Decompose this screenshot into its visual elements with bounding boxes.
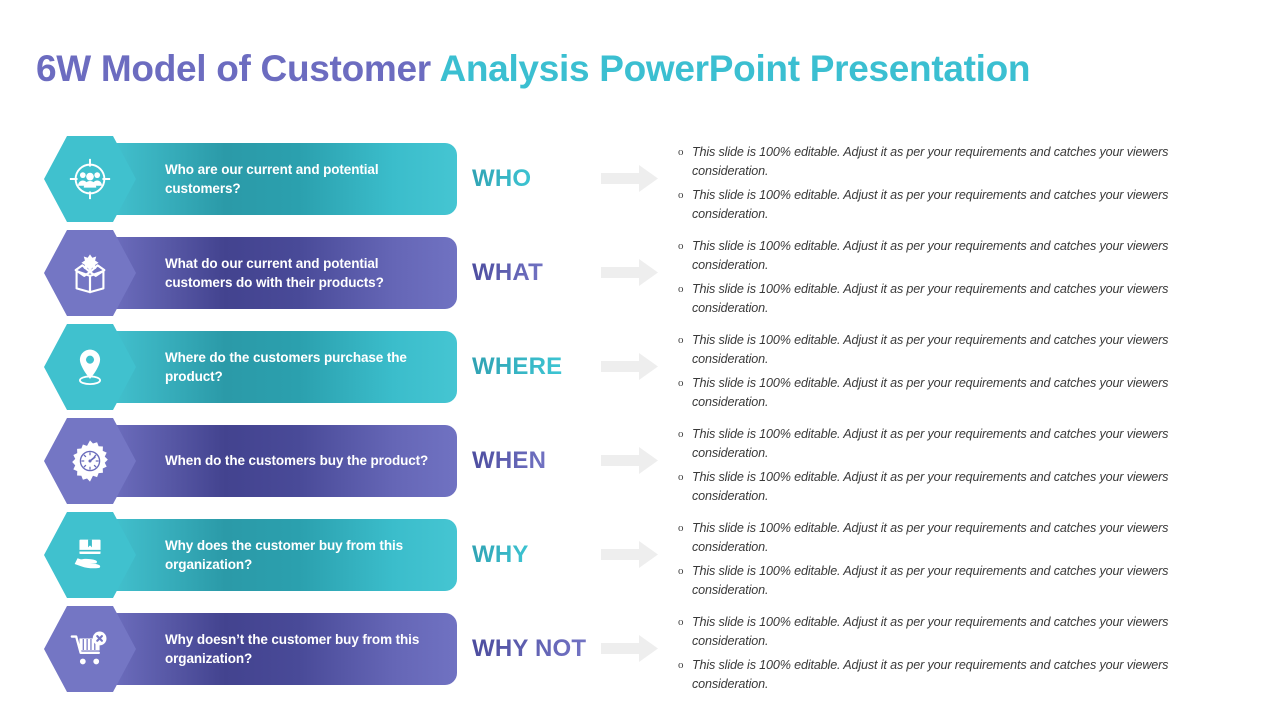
list-item: o This slide is 100% editable. Adjust it… (678, 562, 1178, 599)
right-arrow-icon (601, 259, 658, 286)
gear-clock-icon (67, 438, 113, 484)
six-w-row: Who are our current and potential custom… (0, 136, 1280, 230)
bullet-list: o This slide is 100% editable. Adjust it… (678, 324, 1178, 418)
right-arrow-icon (601, 165, 658, 192)
right-arrow-icon (601, 353, 658, 380)
list-item: o This slide is 100% editable. Adjust it… (678, 374, 1178, 411)
bullet-marker-icon: o (678, 280, 692, 299)
bullet-marker-icon: o (678, 562, 692, 581)
bullet-text: This slide is 100% editable. Adjust it a… (692, 331, 1178, 368)
six-w-row: Why doesn’t the customer buy from this o… (0, 606, 1280, 700)
bullet-marker-icon: o (678, 425, 692, 444)
page-title-part2: Analysis PowerPoint Presentation (439, 48, 1030, 89)
list-item: o This slide is 100% editable. Adjust it… (678, 331, 1178, 368)
list-item: o This slide is 100% editable. Adjust it… (678, 468, 1178, 505)
keyword-label: WHY (472, 512, 529, 598)
bullet-text: This slide is 100% editable. Adjust it a… (692, 562, 1178, 599)
list-item: o This slide is 100% editable. Adjust it… (678, 519, 1178, 556)
target-people-icon (67, 156, 113, 202)
keyword-label: WHO (472, 136, 531, 222)
bullet-marker-icon: o (678, 374, 692, 393)
bullet-list: o This slide is 100% editable. Adjust it… (678, 606, 1178, 700)
list-item: o This slide is 100% editable. Adjust it… (678, 613, 1178, 650)
bullet-marker-icon: o (678, 143, 692, 162)
page-title-part1: 6W Model of Customer (36, 48, 439, 89)
bullet-marker-icon: o (678, 237, 692, 256)
page-title: 6W Model of Customer Analysis PowerPoint… (36, 48, 1030, 90)
right-arrow-icon (601, 541, 658, 568)
list-item: o This slide is 100% editable. Adjust it… (678, 186, 1178, 223)
bullet-text: This slide is 100% editable. Adjust it a… (692, 374, 1178, 411)
six-w-row: When do the customers buy the product? W… (0, 418, 1280, 512)
question-text: What do our current and potential custom… (165, 254, 443, 292)
question-text: When do the customers buy the product? (165, 451, 428, 470)
bullet-marker-icon: o (678, 656, 692, 675)
bullet-list: o This slide is 100% editable. Adjust it… (678, 136, 1178, 230)
question-bar[interactable]: Why doesn’t the customer buy from this o… (105, 613, 457, 685)
hand-package-icon (67, 532, 113, 578)
bullet-text: This slide is 100% editable. Adjust it a… (692, 143, 1178, 180)
map-pin-icon (68, 344, 112, 390)
list-item: o This slide is 100% editable. Adjust it… (678, 425, 1178, 462)
question-bar[interactable]: Who are our current and potential custom… (105, 143, 457, 215)
question-bar[interactable]: Why does the customer buy from this orga… (105, 519, 457, 591)
keyword-label: WHERE (472, 324, 562, 410)
right-arrow-icon (601, 635, 658, 662)
bullet-marker-icon: o (678, 186, 692, 205)
bullet-text: This slide is 100% editable. Adjust it a… (692, 468, 1178, 505)
question-text: Who are our current and potential custom… (165, 160, 443, 198)
bullet-list: o This slide is 100% editable. Adjust it… (678, 230, 1178, 324)
question-bar[interactable]: What do our current and potential custom… (105, 237, 457, 309)
list-item: o This slide is 100% editable. Adjust it… (678, 656, 1178, 693)
question-text: Where do the customers purchase the prod… (165, 348, 443, 386)
bullet-text: This slide is 100% editable. Adjust it a… (692, 237, 1178, 274)
keyword-label: WHEN (472, 418, 546, 504)
keyword-label: WHAT (472, 230, 543, 316)
bullet-list: o This slide is 100% editable. Adjust it… (678, 418, 1178, 512)
cart-cancel-icon (67, 626, 113, 672)
bullet-list: o This slide is 100% editable. Adjust it… (678, 512, 1178, 606)
bullet-marker-icon: o (678, 519, 692, 538)
list-item: o This slide is 100% editable. Adjust it… (678, 280, 1178, 317)
six-w-row: Why does the customer buy from this orga… (0, 512, 1280, 606)
bullet-text: This slide is 100% editable. Adjust it a… (692, 280, 1178, 317)
open-box-icon (67, 250, 113, 296)
right-arrow-icon (601, 447, 658, 474)
bullet-text: This slide is 100% editable. Adjust it a… (692, 613, 1178, 650)
question-text: Why does the customer buy from this orga… (165, 536, 443, 574)
bullet-text: This slide is 100% editable. Adjust it a… (692, 425, 1178, 462)
six-w-row: What do our current and potential custom… (0, 230, 1280, 324)
list-item: o This slide is 100% editable. Adjust it… (678, 143, 1178, 180)
keyword-label: WHY NOT (472, 606, 586, 692)
bullet-text: This slide is 100% editable. Adjust it a… (692, 186, 1178, 223)
bullet-text: This slide is 100% editable. Adjust it a… (692, 519, 1178, 556)
question-text: Why doesn’t the customer buy from this o… (165, 630, 443, 668)
six-w-row: Where do the customers purchase the prod… (0, 324, 1280, 418)
bullet-marker-icon: o (678, 613, 692, 632)
list-item: o This slide is 100% editable. Adjust it… (678, 237, 1178, 274)
bullet-marker-icon: o (678, 331, 692, 350)
question-bar[interactable]: When do the customers buy the product? (105, 425, 457, 497)
bullet-marker-icon: o (678, 468, 692, 487)
bullet-text: This slide is 100% editable. Adjust it a… (692, 656, 1178, 693)
question-bar[interactable]: Where do the customers purchase the prod… (105, 331, 457, 403)
